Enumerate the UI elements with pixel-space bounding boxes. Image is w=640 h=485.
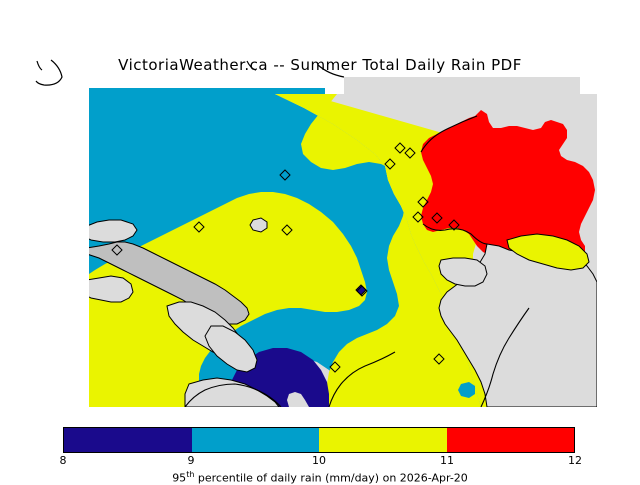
colorbar-tick-10: 10	[312, 454, 326, 467]
caption-number: 95	[172, 472, 186, 485]
caption-text: percentile of daily rain (mm/day) on 202…	[194, 472, 467, 485]
map-plot-area[interactable]	[89, 94, 597, 407]
rainfall-contour-map[interactable]	[89, 94, 597, 407]
colorbar-tick-9: 9	[188, 454, 195, 467]
colorbar-caption: 95th percentile of daily rain (mm/day) o…	[0, 470, 640, 485]
colorbar-band-9-10[interactable]	[192, 428, 320, 452]
colorbar-tick-8: 8	[60, 454, 67, 467]
colorbar-band-11-12[interactable]	[447, 428, 575, 452]
colorbar-bands[interactable]	[63, 427, 575, 453]
small-island	[250, 218, 267, 232]
colorbar-tick-12: 12	[568, 454, 582, 467]
colorbar[interactable]: 89101112 95th percentile of daily rain (…	[0, 420, 640, 480]
colorbar-band-8-9[interactable]	[64, 428, 192, 452]
colorbar-band-10-11[interactable]	[319, 428, 447, 452]
page-title: VictoriaWeather.ca -- Summer Total Daily…	[0, 56, 640, 74]
colorbar-tick-11: 11	[440, 454, 454, 467]
